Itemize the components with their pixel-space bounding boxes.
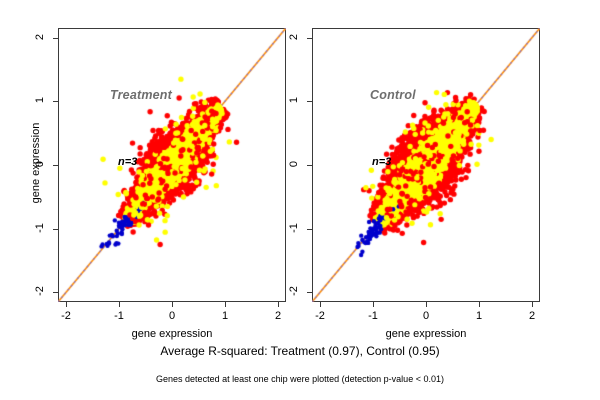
x-tick-treatment-3 (225, 302, 226, 307)
y-axis-title-treatment: gene expression (30, 93, 42, 233)
x-tick-label-control-4: 2 (529, 310, 535, 322)
y-tick-treatment-2 (53, 165, 58, 166)
y-tick-label-treatment-4: 2 (34, 29, 46, 45)
y-tick-label-control-2: 0 (288, 156, 300, 172)
x-tick-label-treatment-2: 0 (169, 310, 175, 322)
y-tick-treatment-0 (53, 292, 58, 293)
y-tick-label-control-3: 1 (288, 92, 300, 108)
y-tick-label-treatment-0: -2 (34, 283, 46, 299)
y-tick-label-control-4: 2 (288, 29, 300, 45)
x-tick-label-control-1: -1 (368, 310, 378, 322)
x-tick-control-4 (532, 302, 533, 307)
figure-root: Treatment n=3 Control n=3 -2-1012-2-1012… (0, 0, 600, 400)
caption-detection-note: Genes detected at least one chip were pl… (156, 374, 444, 384)
x-tick-control-2 (426, 302, 427, 307)
y-tick-control-4 (307, 38, 312, 39)
x-axis-title-control: gene expression (386, 328, 467, 340)
sample-size-label-control: n=3 (372, 156, 391, 168)
y-tick-treatment-4 (53, 38, 58, 39)
x-tick-treatment-2 (172, 302, 173, 307)
y-tick-label-control-0: -2 (288, 283, 300, 299)
plot-panel-treatment: Treatment n=3 (58, 28, 286, 302)
plot-panel-control: Control n=3 (312, 28, 540, 302)
x-tick-control-0 (320, 302, 321, 307)
panel-title-treatment: Treatment (110, 88, 172, 102)
x-tick-treatment-1 (119, 302, 120, 307)
sample-size-label-treatment: n=3 (118, 156, 137, 168)
x-tick-label-control-3: 1 (476, 310, 482, 322)
y-tick-control-1 (307, 229, 312, 230)
x-tick-treatment-4 (278, 302, 279, 307)
x-tick-label-treatment-3: 1 (222, 310, 228, 322)
x-tick-label-control-2: 0 (423, 310, 429, 322)
x-tick-control-3 (479, 302, 480, 307)
x-tick-control-1 (373, 302, 374, 307)
x-tick-label-treatment-0: -2 (61, 310, 71, 322)
x-tick-label-control-0: -2 (315, 310, 325, 322)
caption-average-r-squared: Average R-squared: Treatment (0.97), Con… (160, 344, 439, 358)
y-tick-control-2 (307, 165, 312, 166)
panel-title-control: Control (370, 88, 416, 102)
scatter-cloud-control (312, 28, 540, 302)
y-tick-control-0 (307, 292, 312, 293)
x-tick-label-treatment-4: 2 (275, 310, 281, 322)
y-tick-control-3 (307, 101, 312, 102)
x-tick-label-treatment-1: -1 (114, 310, 124, 322)
y-tick-treatment-1 (53, 229, 58, 230)
y-tick-label-control-1: -1 (288, 220, 300, 236)
x-tick-treatment-0 (66, 302, 67, 307)
scatter-cloud-treatment (58, 28, 286, 302)
x-axis-title-treatment: gene expression (132, 328, 213, 340)
y-tick-treatment-3 (53, 101, 58, 102)
